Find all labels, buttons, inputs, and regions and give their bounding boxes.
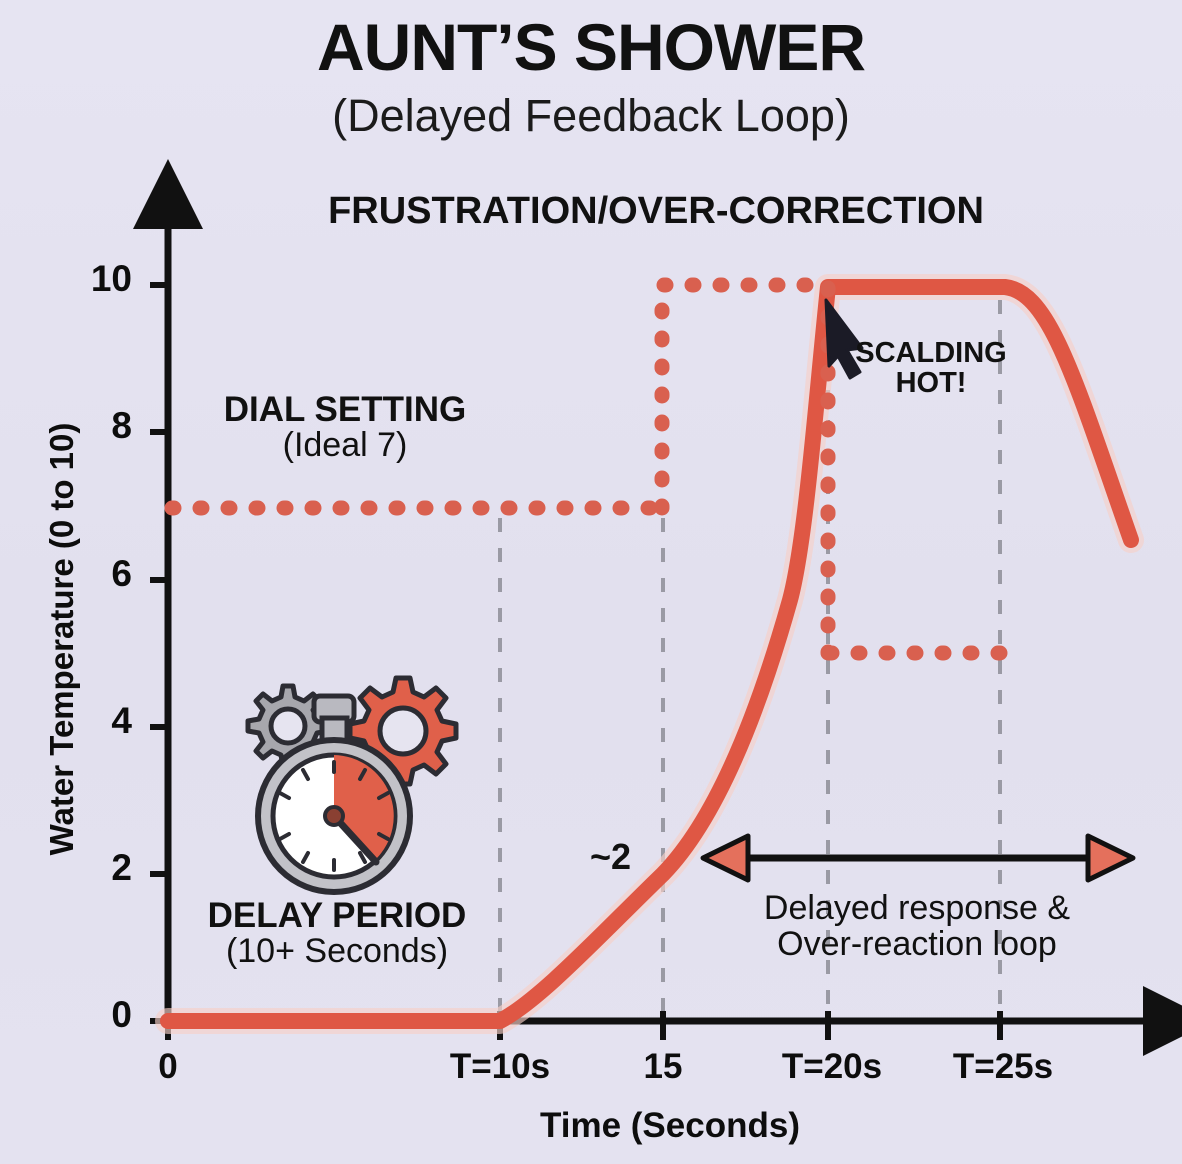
loop-range-arrow (703, 836, 1133, 880)
arrow-left-icon (703, 836, 748, 880)
y-tick-2: 2 (72, 847, 132, 889)
loop-annotation: Delayed response & Over-reaction loop (702, 890, 1132, 962)
delay-period-sublabel: (10+ Seconds) (172, 934, 502, 969)
chart-canvas: AUNT’S SHOWER (Delayed Feedback Loop) FR… (0, 0, 1182, 1164)
dial-setting-sublabel: (Ideal 7) (180, 428, 510, 463)
y-tick-0: 0 (72, 994, 132, 1036)
x-tick-t20: T=20s (782, 1047, 882, 1087)
x-tick-t25: T=25s (953, 1047, 1053, 1087)
loop-label-line2: Over-reaction loop (702, 926, 1132, 962)
y-tick-6: 6 (72, 553, 132, 595)
stopwatch-illustration (248, 678, 456, 892)
delay-period-annotation: DELAY PERIOD (10+ Seconds) (172, 898, 502, 968)
plot-area (0, 0, 1182, 1164)
scalding-hot-annotation: SCALDING HOT! (836, 338, 1026, 399)
x-tick-t10: T=10s (450, 1047, 550, 1087)
y-tick-4: 4 (72, 700, 132, 742)
dial-setting-annotation: DIAL SETTING (Ideal 7) (180, 392, 510, 462)
arrow-right-icon (1088, 836, 1133, 880)
x-axis-title: Time (Seconds) (170, 1106, 1170, 1146)
dial-setting-label: DIAL SETTING (180, 392, 510, 428)
x-tick-0: 0 (158, 1047, 177, 1087)
scalding-label-line1: SCALDING (836, 338, 1026, 368)
y-tick-8: 8 (72, 405, 132, 447)
delay-period-label: DELAY PERIOD (172, 898, 502, 934)
loop-label-line1: Delayed response & (702, 890, 1132, 926)
y-axis-title: Water Temperature (0 to 10) (43, 309, 81, 969)
y-tick-10: 10 (72, 258, 132, 300)
approx-value-label: ~2 (590, 836, 631, 878)
x-tick-15: 15 (644, 1047, 683, 1087)
scalding-label-line2: HOT! (836, 368, 1026, 398)
